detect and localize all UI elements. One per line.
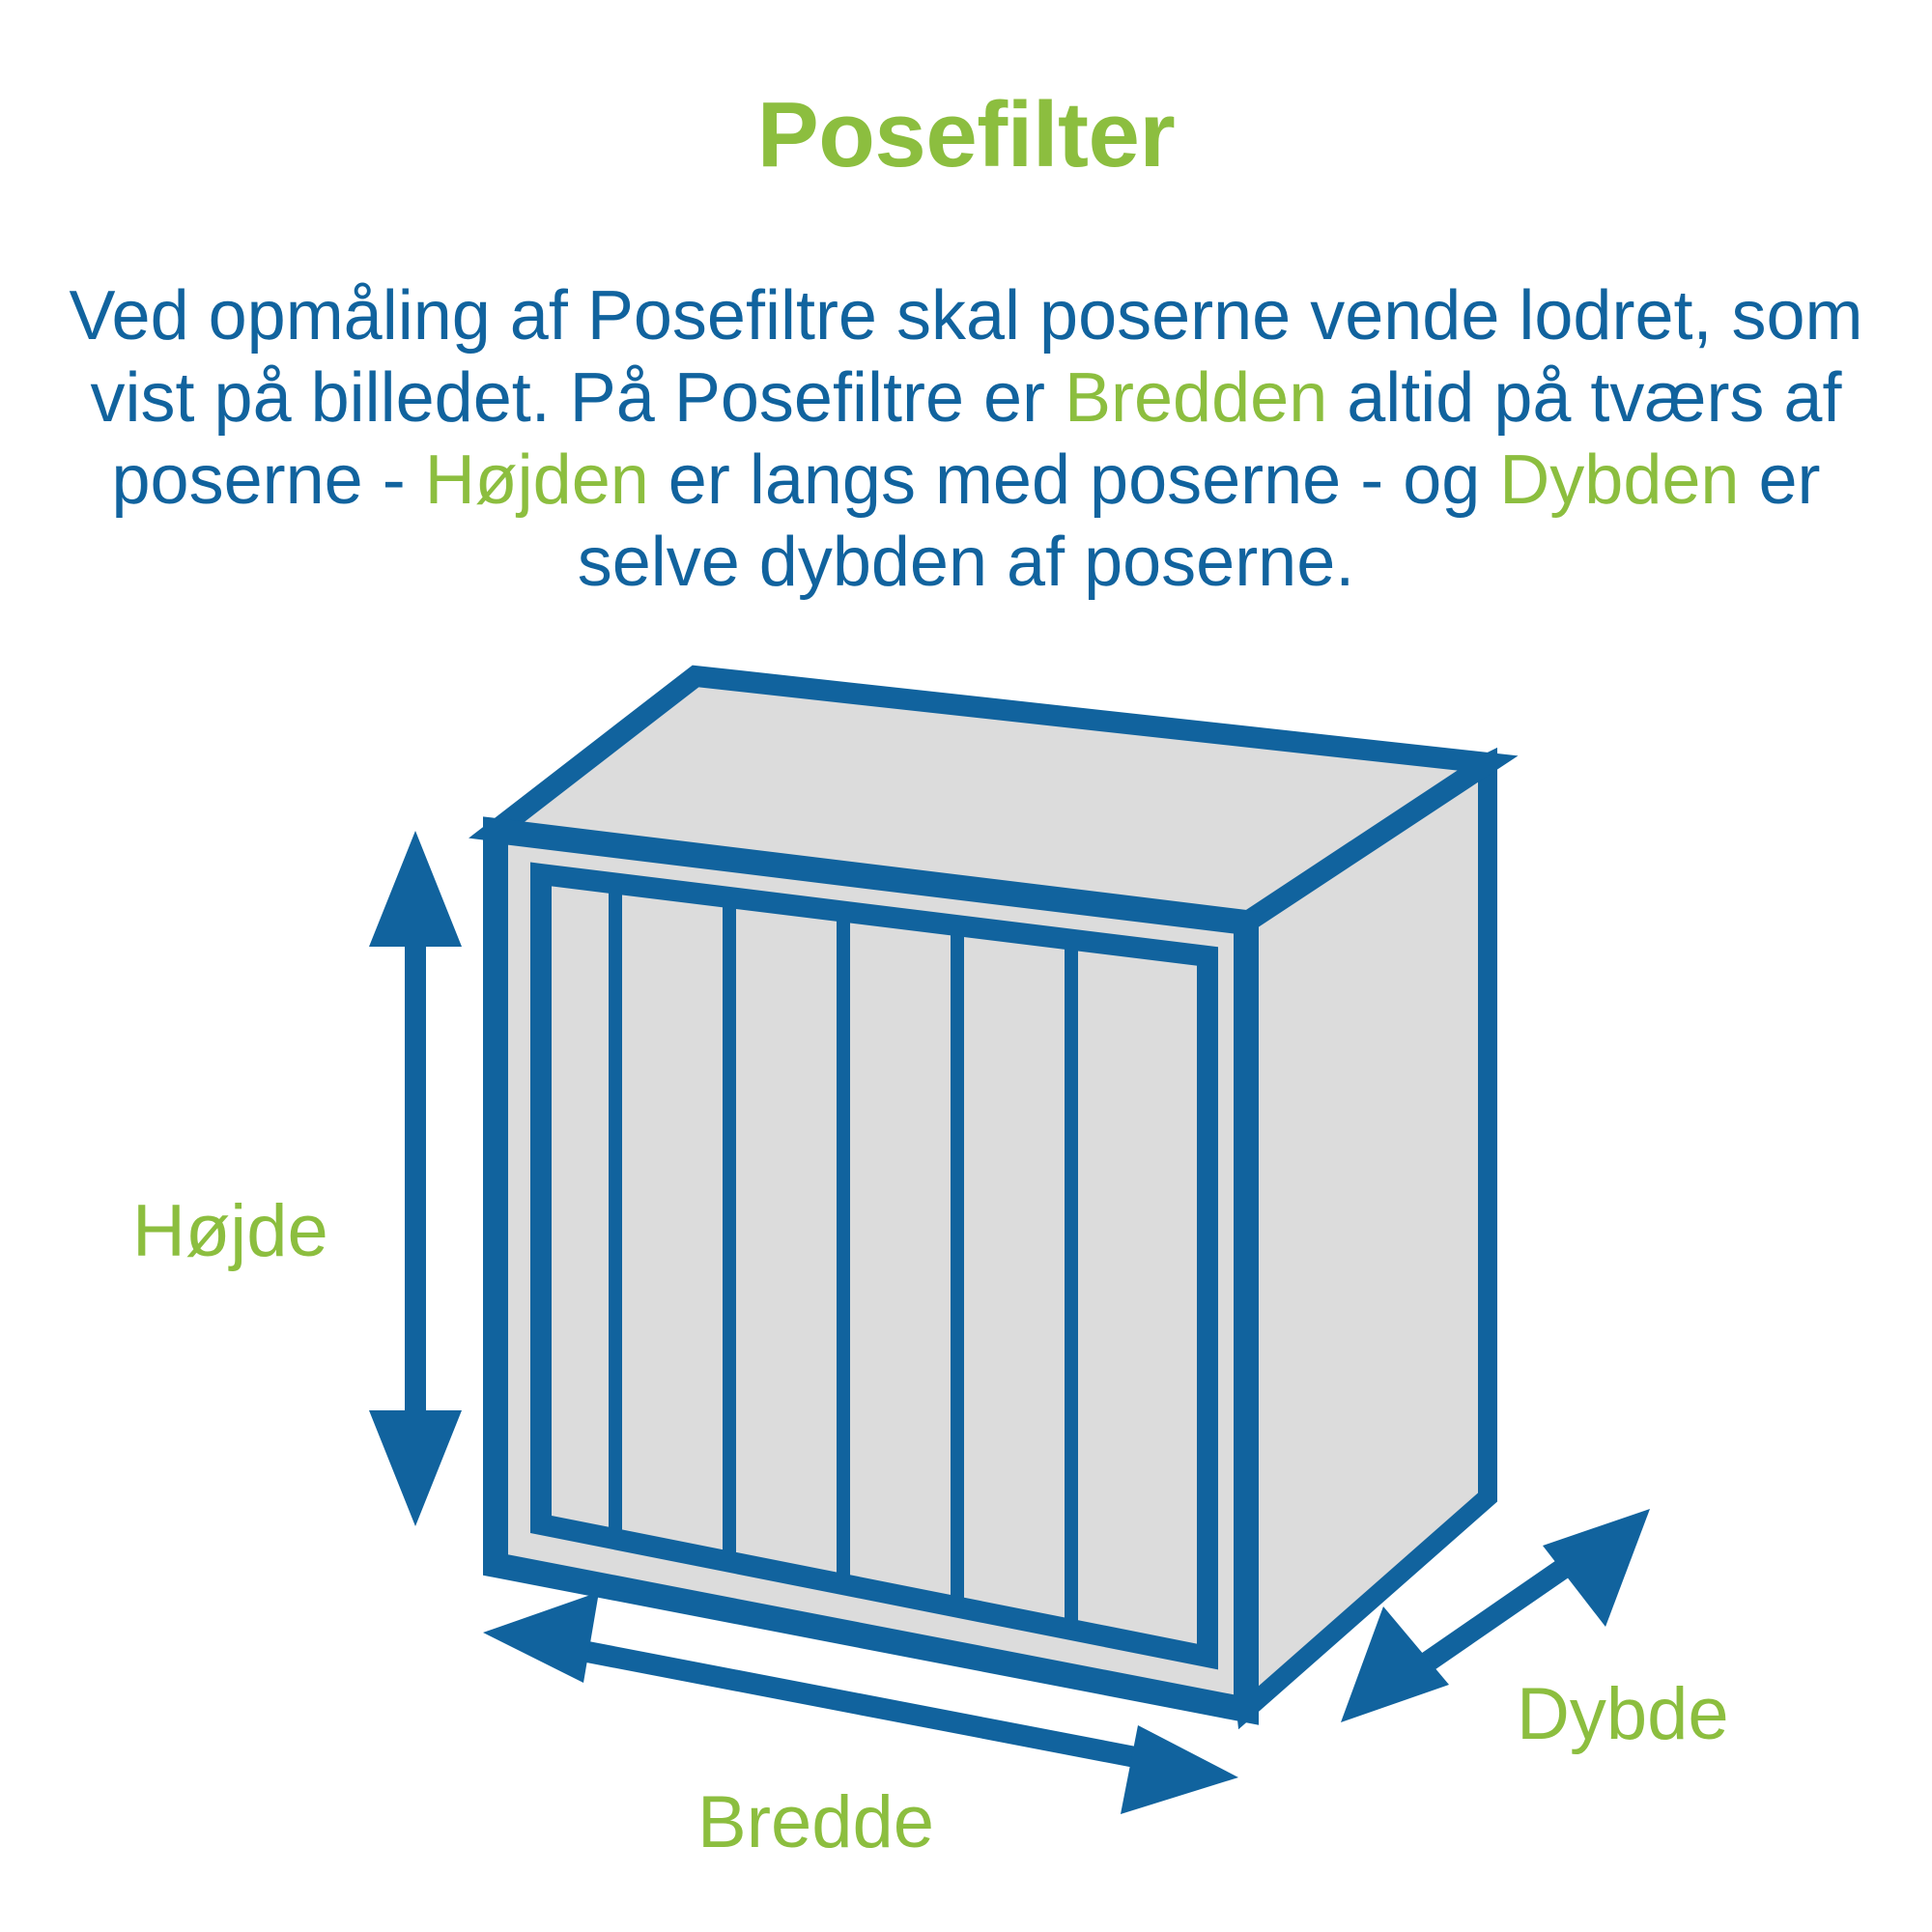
height-dimension-arrow [369,831,462,1526]
filter-front-inner-frame [541,874,1207,1657]
width-dimension-label: Bredde [697,1781,934,1863]
depth-dimension-label: Dybde [1517,1673,1729,1755]
height-dimension-label: Højde [132,1190,328,1272]
poster-canvas: Posefilter Ved opmåling af Posefiltre sk… [0,0,1932,1932]
bag-filter-diagram: Højde Bredde Dybde [0,0,1932,1932]
